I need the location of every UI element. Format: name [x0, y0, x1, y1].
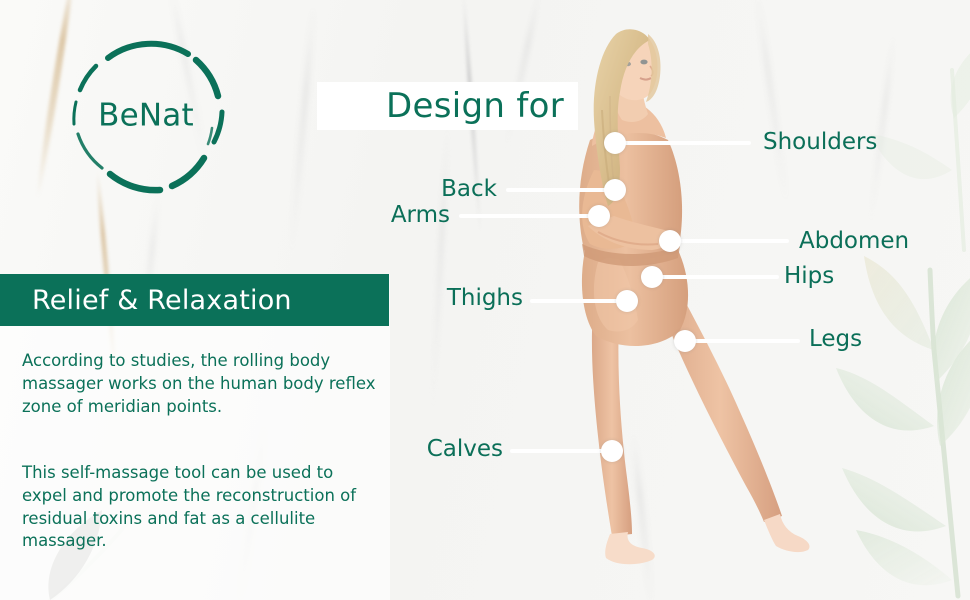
callout-label-hips: Hips [784, 265, 834, 288]
callout-dot-icon [641, 266, 663, 288]
callout-dot-icon [616, 290, 638, 312]
design-for-title: Design for [386, 89, 564, 123]
callout-label-shoulders: Shoulders [763, 131, 877, 154]
callout-leader-line [656, 275, 779, 279]
callout-leader-line [459, 214, 595, 218]
callout-label-calves: Calves [0, 438, 503, 461]
callout-label-back: Back [0, 178, 497, 201]
brand-wordmark: BeNat [62, 97, 230, 133]
callout-label-thighs: Thighs [0, 287, 523, 310]
callout-leader-line [619, 141, 751, 145]
callout-dot-icon [604, 132, 626, 154]
brand-logo: BeNat [62, 32, 230, 200]
callout-label-abdomen: Abdomen [799, 230, 909, 253]
watercolor-leaf-decor [830, 250, 970, 600]
callout-label-legs: Legs [809, 328, 862, 351]
callout-dot-icon [604, 179, 626, 201]
info-paragraph-1: According to studies, the rolling body m… [22, 350, 377, 418]
callout-label-arms: Arms [0, 204, 450, 227]
design-for-banner: Design for [317, 82, 578, 130]
callout-dot-icon [588, 205, 610, 227]
promo-banner-canvas: BeNat Design for Relief & Relaxation Acc… [0, 0, 970, 600]
callout-leader-line [674, 239, 789, 243]
callout-leader-line [530, 299, 623, 303]
watercolor-leaf-decor [868, 40, 970, 260]
callout-dot-icon [659, 230, 681, 252]
callout-leader-line [506, 188, 611, 192]
callout-dot-icon [601, 440, 623, 462]
callout-leader-line [689, 339, 800, 343]
info-paragraph-2: This self-massage tool can be used to ex… [22, 462, 377, 553]
callout-dot-icon [674, 330, 696, 352]
callout-leader-line [510, 449, 608, 453]
